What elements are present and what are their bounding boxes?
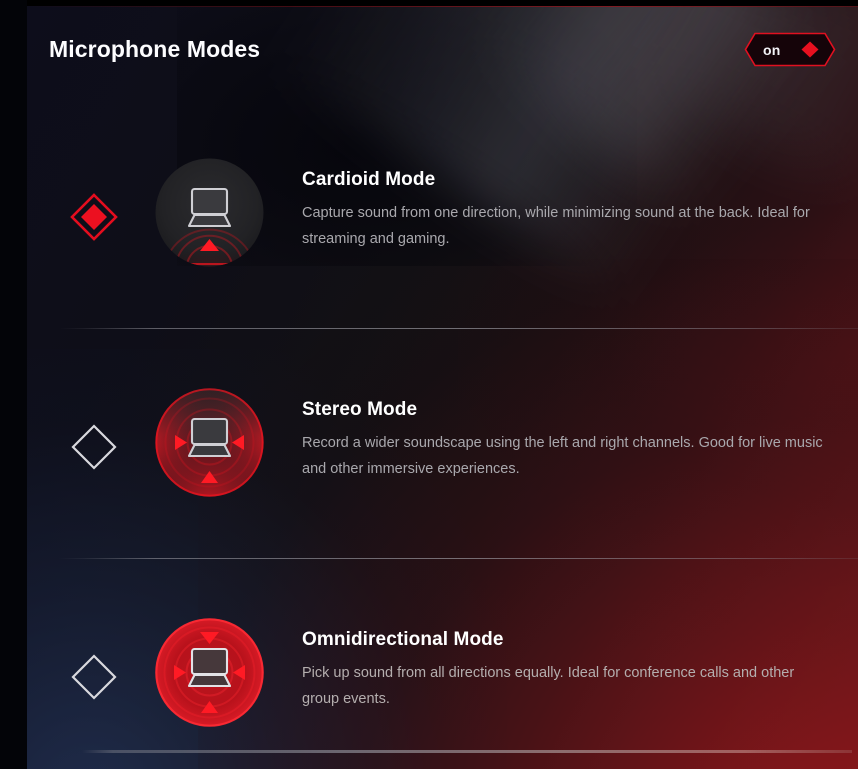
omnidirectional-pattern-icon	[153, 616, 266, 729]
row-divider	[59, 558, 858, 559]
toggle-state-label: on	[763, 32, 781, 67]
mode-text-stereo: Stereo Mode Record a wider soundscape us…	[302, 399, 842, 482]
mode-selector-stereo[interactable]	[68, 421, 120, 473]
mode-description: Pick up sound from all directions equall…	[302, 660, 827, 712]
toggle-hexagon-icon	[744, 32, 836, 67]
laptop-icon	[189, 419, 230, 456]
laptop-icon	[189, 649, 230, 686]
on-off-toggle[interactable]: on	[744, 32, 836, 67]
mode-selector-cardioid[interactable]	[68, 191, 120, 243]
mode-icon-cardioid[interactable]	[153, 156, 266, 269]
panel-content: Microphone Modes on	[27, 6, 858, 769]
mode-row[interactable]: Cardioid Mode Capture sound from one dir…	[27, 98, 858, 328]
laptop-icon	[189, 189, 230, 226]
mode-title: Omnidirectional Mode	[302, 629, 842, 651]
diamond-filled-icon	[68, 191, 120, 243]
mode-description: Record a wider soundscape using the left…	[302, 430, 827, 482]
mode-selector-omnidirectional[interactable]	[68, 651, 120, 703]
diamond-outline-icon	[68, 421, 120, 473]
bottom-rule	[82, 750, 852, 753]
panel-header: Microphone Modes on	[27, 6, 858, 98]
mode-row[interactable]: Omnidirectional Mode Pick up sound from …	[27, 558, 858, 769]
left-gutter	[0, 0, 27, 769]
top-hairline	[27, 6, 858, 7]
microphone-modes-panel: Microphone Modes on	[27, 6, 858, 769]
mode-description: Capture sound from one direction, while …	[302, 200, 827, 252]
microphone-modes-app: Microphone Modes on	[0, 0, 858, 769]
mode-icon-omnidirectional[interactable]	[153, 616, 266, 729]
page-title: Microphone Modes	[49, 36, 260, 63]
mode-title: Cardioid Mode	[302, 169, 842, 191]
mode-text-omnidirectional: Omnidirectional Mode Pick up sound from …	[302, 629, 842, 712]
mode-icon-stereo[interactable]	[153, 386, 266, 499]
mode-text-cardioid: Cardioid Mode Capture sound from one dir…	[302, 169, 842, 252]
row-divider	[59, 328, 858, 329]
stereo-pattern-icon	[153, 386, 266, 499]
mode-title: Stereo Mode	[302, 399, 842, 421]
diamond-outline-icon	[68, 651, 120, 703]
mode-row[interactable]: Stereo Mode Record a wider soundscape us…	[27, 328, 858, 558]
cardioid-pattern-icon	[153, 156, 266, 269]
